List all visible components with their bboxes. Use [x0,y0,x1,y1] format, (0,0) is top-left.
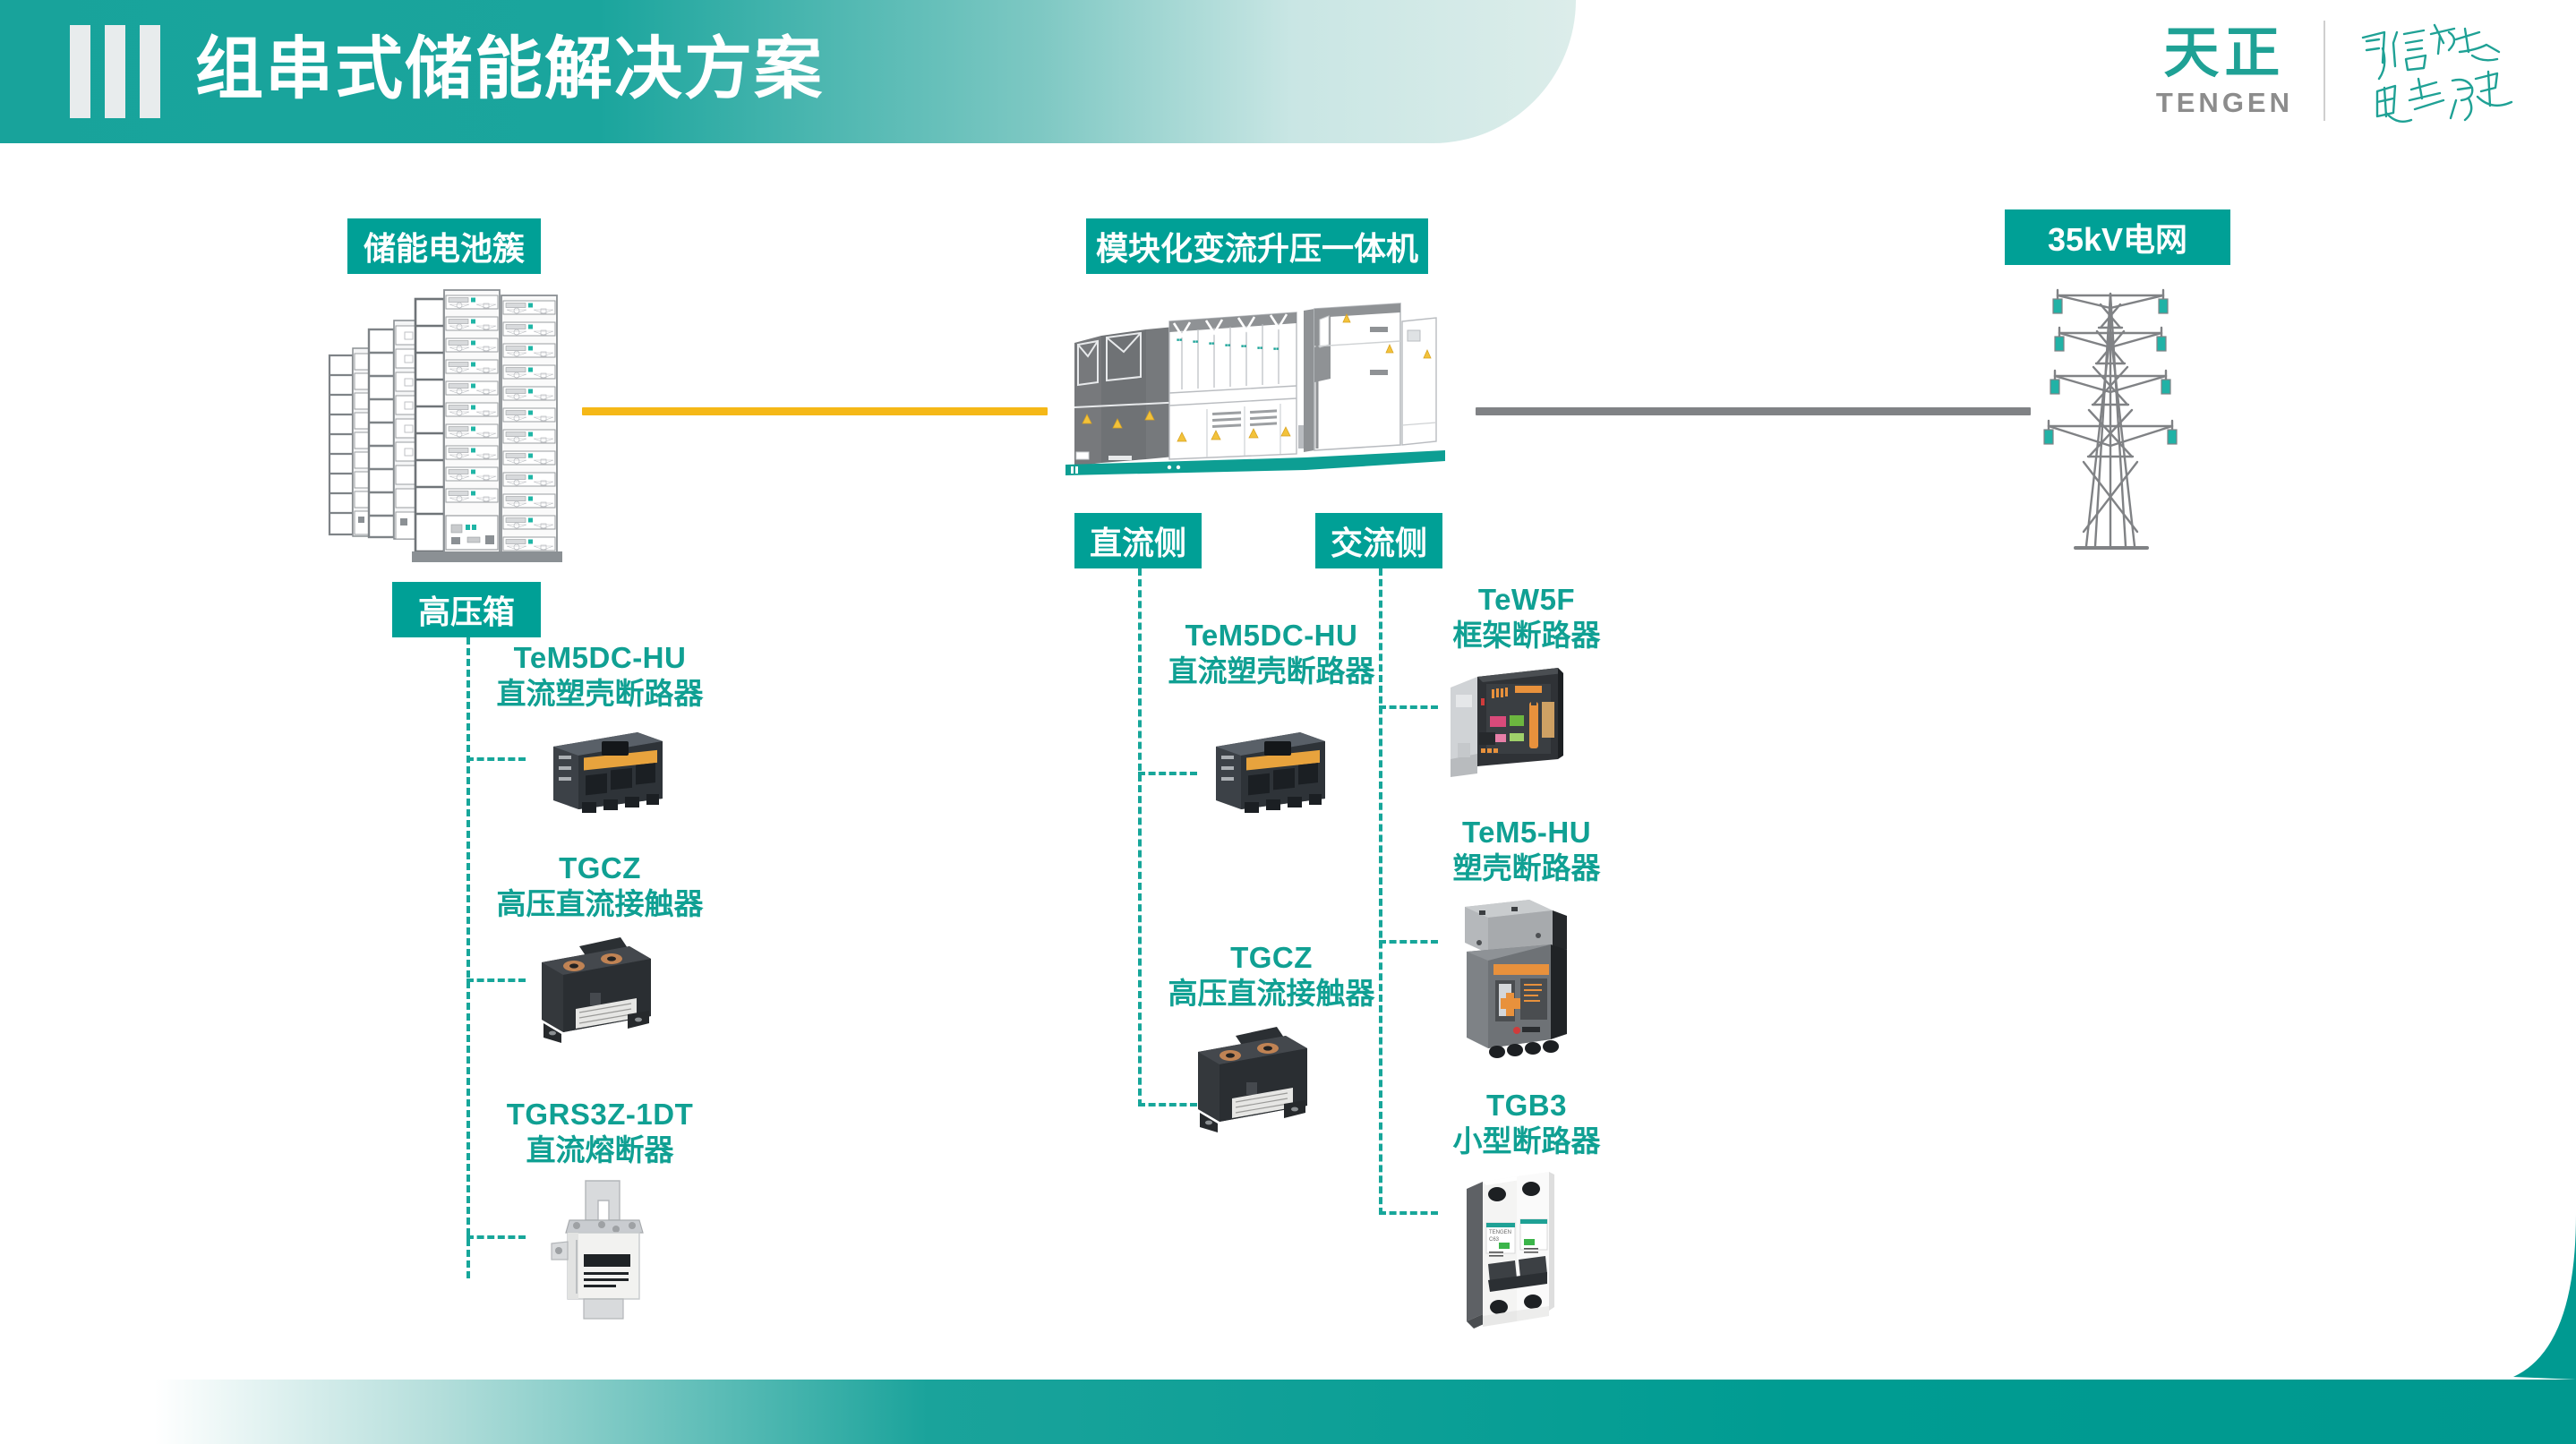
svg-text:■■: ■■ [1241,344,1246,349]
label-pcs-container: 模块化变流升压一体机 [1086,218,1428,274]
page-title: 组串式储能解决方案 [195,16,824,124]
header-banner: 组串式储能解决方案 [0,0,1576,143]
pcs-container-icon: ■■■■■■ ■■■■■■ ■■ [1046,300,1449,492]
mcb-icon: TENGENC63 [1443,1164,1578,1334]
air-circuit-breaker-icon [1440,662,1574,779]
label-dc-side: 直流侧 [1074,513,1202,568]
product-code: TGRS3Z-1DT [466,1097,734,1132]
product-code: TeM5-HU [1401,815,1652,850]
battery-rack-cluster-icon [322,279,591,575]
caption-ac-product-3: TGB3 小型断路器 [1401,1088,1652,1160]
dc-bus-line [582,407,1048,415]
mccb-icon [1443,891,1578,1061]
svg-text:■■: ■■ [1209,341,1214,346]
connector-ac-item-1 [1379,705,1438,709]
brand-name-en: TENGEN [2156,87,2293,119]
three-bars-icon [70,25,160,118]
label-grid: 35kV电网 [2005,209,2230,265]
connector-battery-item-3 [466,1235,526,1239]
label-ac-side: 交流侧 [1315,513,1442,568]
brand-mark: 天正 TENGEN [2156,22,2293,119]
caption-dc-product-1: TeM5DC-HU 直流塑壳断路器 [1146,618,1397,690]
product-code: TGB3 [1401,1088,1652,1124]
dc-contactor-icon [524,927,667,1043]
label-high-voltage-box: 高压箱 [392,582,541,637]
svg-text:■■: ■■ [1177,338,1182,343]
brand-name-cn: 天正 [2163,22,2285,85]
transmission-tower-icon [2025,278,2195,555]
connector-dc-trunk [1138,568,1142,1106]
handwritten-slogan-icon [2356,13,2526,129]
product-desc: 直流塑壳断路器 [1146,654,1397,689]
dc-mccb-icon [537,716,672,816]
connector-battery-item-1 [466,757,526,761]
dc-fuse-icon [546,1177,663,1320]
ac-bus-line [1476,407,2031,415]
svg-text:C63: C63 [1489,1237,1500,1243]
product-code: TeW5F [1401,582,1652,618]
svg-text:■■: ■■ [1273,346,1279,352]
caption-dc-product-2: TGCZ 高压直流接触器 [1146,940,1397,1013]
svg-text:■■: ■■ [1193,339,1198,345]
svg-text:TENGEN: TENGEN [1489,1230,1511,1235]
caption-battery-product-1: TeM5DC-HU 直流塑壳断路器 [475,640,725,713]
product-desc: 高压直流接触器 [1146,976,1397,1012]
product-code: TGCZ [475,850,725,886]
caption-ac-product-2: TeM5-HU 塑壳断路器 [1401,815,1652,887]
product-desc: 直流熔断器 [466,1132,734,1168]
product-code: TGCZ [1146,940,1397,976]
footer-band [0,1380,2576,1444]
svg-text:■■: ■■ [1257,346,1262,351]
product-desc: 框架断路器 [1401,618,1652,654]
product-code: TeM5DC-HU [475,640,725,676]
footer-corner-curve [2460,1214,2576,1380]
brand-logo: 天正 TENGEN [2156,13,2526,129]
product-desc: 小型断路器 [1401,1124,1652,1159]
caption-battery-product-2: TGCZ 高压直流接触器 [475,850,725,923]
connector-dc-item-1 [1138,772,1197,775]
svg-text:■■: ■■ [1225,343,1230,348]
slide-canvas: 组串式储能解决方案 天正 TENGEN [0,0,2576,1444]
product-code: TeM5DC-HU [1146,618,1397,654]
label-battery-cluster: 储能电池簇 [347,218,541,274]
connector-battery-item-2 [466,978,526,982]
caption-battery-product-3: TGRS3Z-1DT 直流熔断器 [466,1097,734,1169]
product-desc: 高压直流接触器 [475,886,725,922]
product-desc: 塑壳断路器 [1401,850,1652,886]
brand-divider [2324,21,2325,121]
connector-battery-trunk [466,637,470,1278]
dc-mccb-icon [1200,716,1334,816]
product-desc: 直流塑壳断路器 [475,676,725,712]
connector-ac-item-3 [1379,1211,1438,1215]
dc-contactor-icon [1180,1016,1323,1132]
caption-ac-product-1: TeW5F 框架断路器 [1401,582,1652,654]
